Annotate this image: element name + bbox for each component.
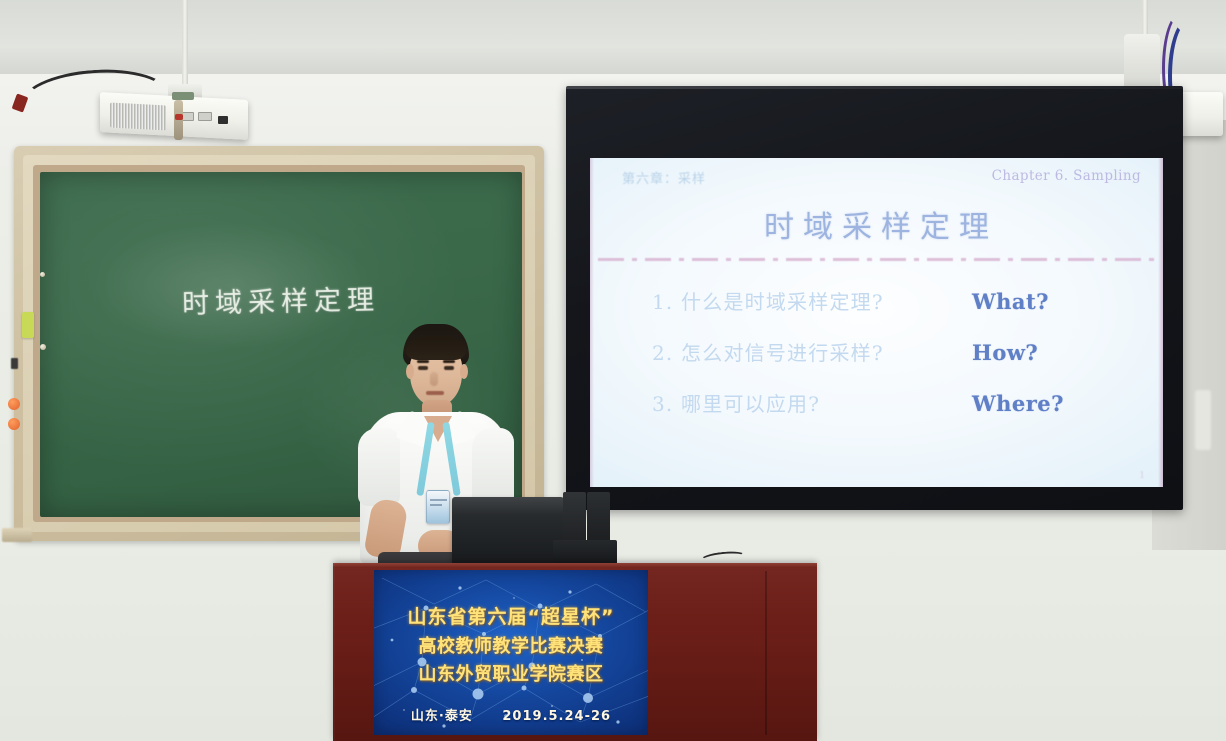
blackboard-screw-upper	[40, 344, 46, 350]
presenter-ear-right	[460, 364, 468, 379]
slide-bullet-item: 3. 哪里可以应用? Where?	[652, 388, 1123, 417]
right-wall-fold	[1195, 390, 1211, 450]
monitor-glare	[452, 497, 564, 515]
slide-bullet-list: 1. 什么是时域采样定理? What? 2. 怎么对信号进行采样? How? 3…	[652, 286, 1123, 439]
projector-left-mount	[174, 100, 183, 140]
bullet-text-cn: 1. 什么是时域采样定理?	[652, 286, 972, 315]
presenter-nose	[430, 372, 438, 386]
event-banner: 山东省第六届“超星杯” 高校教师教学比赛决赛 山东外贸职业学院赛区 山东·泰安 …	[374, 570, 648, 735]
slide-bullet-item: 1. 什么是时域采样定理? What?	[652, 286, 1123, 315]
slide-header-left: 第六章：采样	[622, 168, 706, 187]
slide-page-number: 1	[1139, 471, 1145, 481]
wall-dot-upper	[8, 398, 20, 410]
projector-left-port-3	[218, 116, 228, 124]
blackboard-handwriting: 时域采样定理	[182, 278, 381, 321]
presenter-eyebrow-left	[417, 360, 429, 363]
presenter-eye-right	[444, 366, 454, 370]
banner-title-line-3: 山东外贸职业学院赛区	[374, 660, 648, 686]
badge-text-line-1	[430, 499, 447, 501]
screen-bezel-highlight	[566, 86, 1183, 89]
podium: 山东省第六届“超星杯” 高校教师教学比赛决赛 山东外贸职业学院赛区 山东·泰安 …	[333, 563, 817, 741]
projector-left-connector	[172, 92, 194, 100]
classroom-scene: 时域采样定理 第六章：采样 Chapter 6. Sampling 时域采样定理…	[0, 0, 1226, 741]
slide-header-right: Chapter 6. Sampling	[992, 168, 1141, 184]
presenter-sleeve-right	[472, 428, 514, 506]
projector-left-pole	[182, 0, 188, 92]
presenter-eye-left	[418, 366, 428, 370]
blackboard-screw-lower	[40, 272, 45, 277]
podium-seam	[765, 571, 767, 735]
wall-switch[interactable]	[11, 358, 18, 369]
banner-title-line-2: 高校教师教学比赛决赛	[374, 632, 648, 658]
slide-title: 时域采样定理	[590, 202, 1163, 246]
bullet-text-en: Where?	[972, 391, 1064, 416]
slide-surface: 第六章：采样 Chapter 6. Sampling 时域采样定理 1. 什么是…	[590, 158, 1163, 487]
banner-footer: 山东·泰安 2019.5.24-26	[374, 705, 648, 724]
projection-screen: 第六章：采样 Chapter 6. Sampling 时域采样定理 1. 什么是…	[566, 86, 1183, 510]
presenter-sleeve-left	[358, 428, 400, 506]
presenter-hair-front	[406, 336, 466, 360]
sticky-note	[22, 312, 34, 338]
slide-bullet-item: 2. 怎么对信号进行采样? How?	[652, 337, 1123, 366]
bullet-text-cn: 3. 哪里可以应用?	[652, 388, 972, 417]
bullet-text-cn: 2. 怎么对信号进行采样?	[652, 337, 972, 366]
slide-divider	[598, 258, 1155, 261]
projector-right-arm	[1124, 34, 1160, 92]
projector-left-indicator	[175, 114, 183, 120]
bullet-text-en: How?	[972, 340, 1038, 365]
presenter-ear-left	[406, 364, 414, 379]
presenter-id-badge	[426, 490, 450, 524]
presenter-eyebrow-right	[443, 360, 455, 363]
banner-location: 山东·泰安	[411, 709, 473, 724]
wall-dot-lower	[8, 418, 20, 430]
badge-text-line-2	[430, 504, 442, 506]
presenter-mouth	[426, 391, 444, 395]
podium-monitor	[452, 497, 564, 569]
banner-title-line-1: 山东省第六届“超星杯”	[374, 602, 648, 629]
projector-left-port-2	[198, 112, 212, 121]
bullet-text-en: What?	[972, 289, 1049, 314]
chalk-tray	[2, 528, 32, 542]
banner-dates: 2019.5.24-26	[502, 709, 611, 724]
